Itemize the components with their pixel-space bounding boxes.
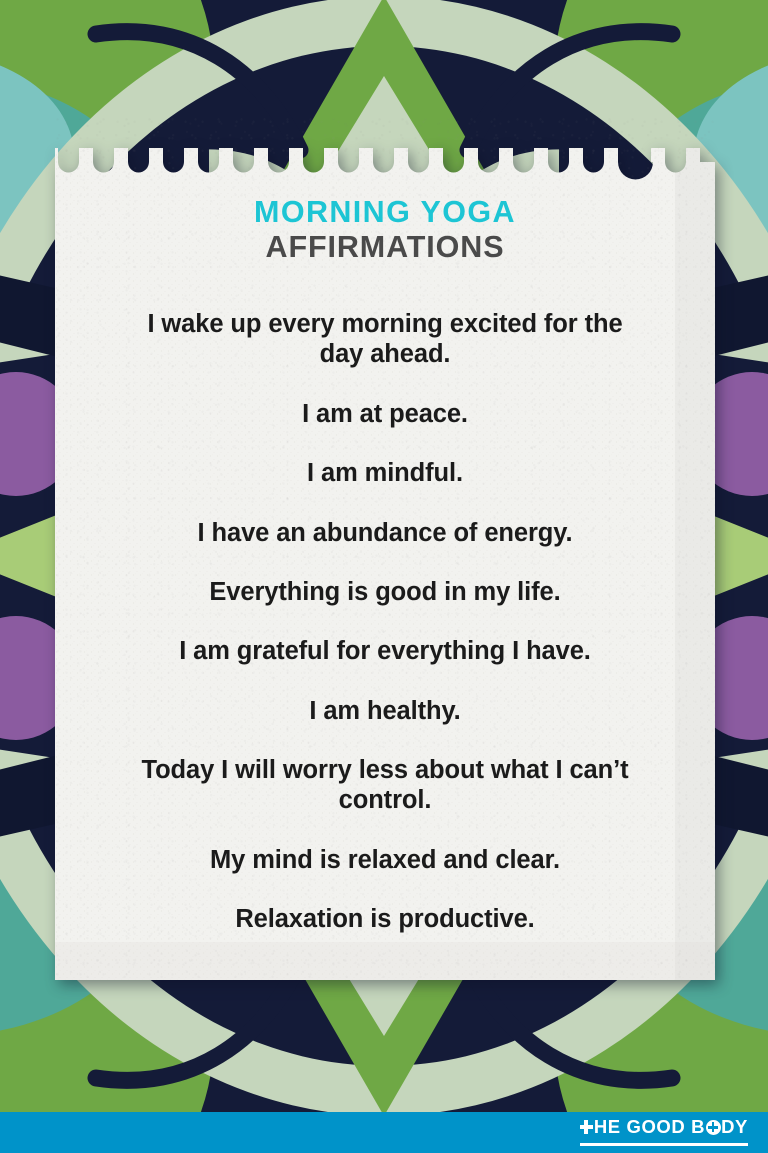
poster-canvas: MORNING YOGA AFFIRMATIONS I wake up ever… [0,0,768,1153]
affirmation-list: I wake up every morning excited for the … [55,309,715,934]
brand-logo-wordmark: HE GOOD BDY [580,1118,748,1137]
list-item: My mind is relaxed and clear. [135,845,635,875]
circle-cross-icon [706,1120,721,1135]
list-item: I am healthy. [135,696,635,726]
brand-text-after: DY [721,1118,748,1137]
note-content: MORNING YOGA AFFIRMATIONS I wake up ever… [55,118,715,934]
page-title-secondary: AFFIRMATIONS [55,229,715,266]
list-item: I am at peace. [135,399,635,429]
plus-icon [580,1120,593,1134]
footer-bar: HE GOOD BDY [0,1112,768,1153]
list-item: I wake up every morning excited for the … [135,309,635,370]
brand-logo[interactable]: HE GOOD BDY [580,1118,748,1146]
list-item: I am mindful. [135,458,635,488]
page-title-primary: MORNING YOGA [55,196,715,229]
list-item: I have an abundance of energy. [135,518,635,548]
logo-underline [580,1143,748,1146]
list-item: Everything is good in my life. [135,577,635,607]
list-item: Today I will worry less about what I can… [135,755,635,816]
list-item: Relaxation is productive. [135,904,635,934]
notepad-paper: MORNING YOGA AFFIRMATIONS I wake up ever… [55,118,715,980]
list-item: I am grateful for everything I have. [135,636,635,666]
brand-text-before: HE GOOD B [594,1118,705,1137]
